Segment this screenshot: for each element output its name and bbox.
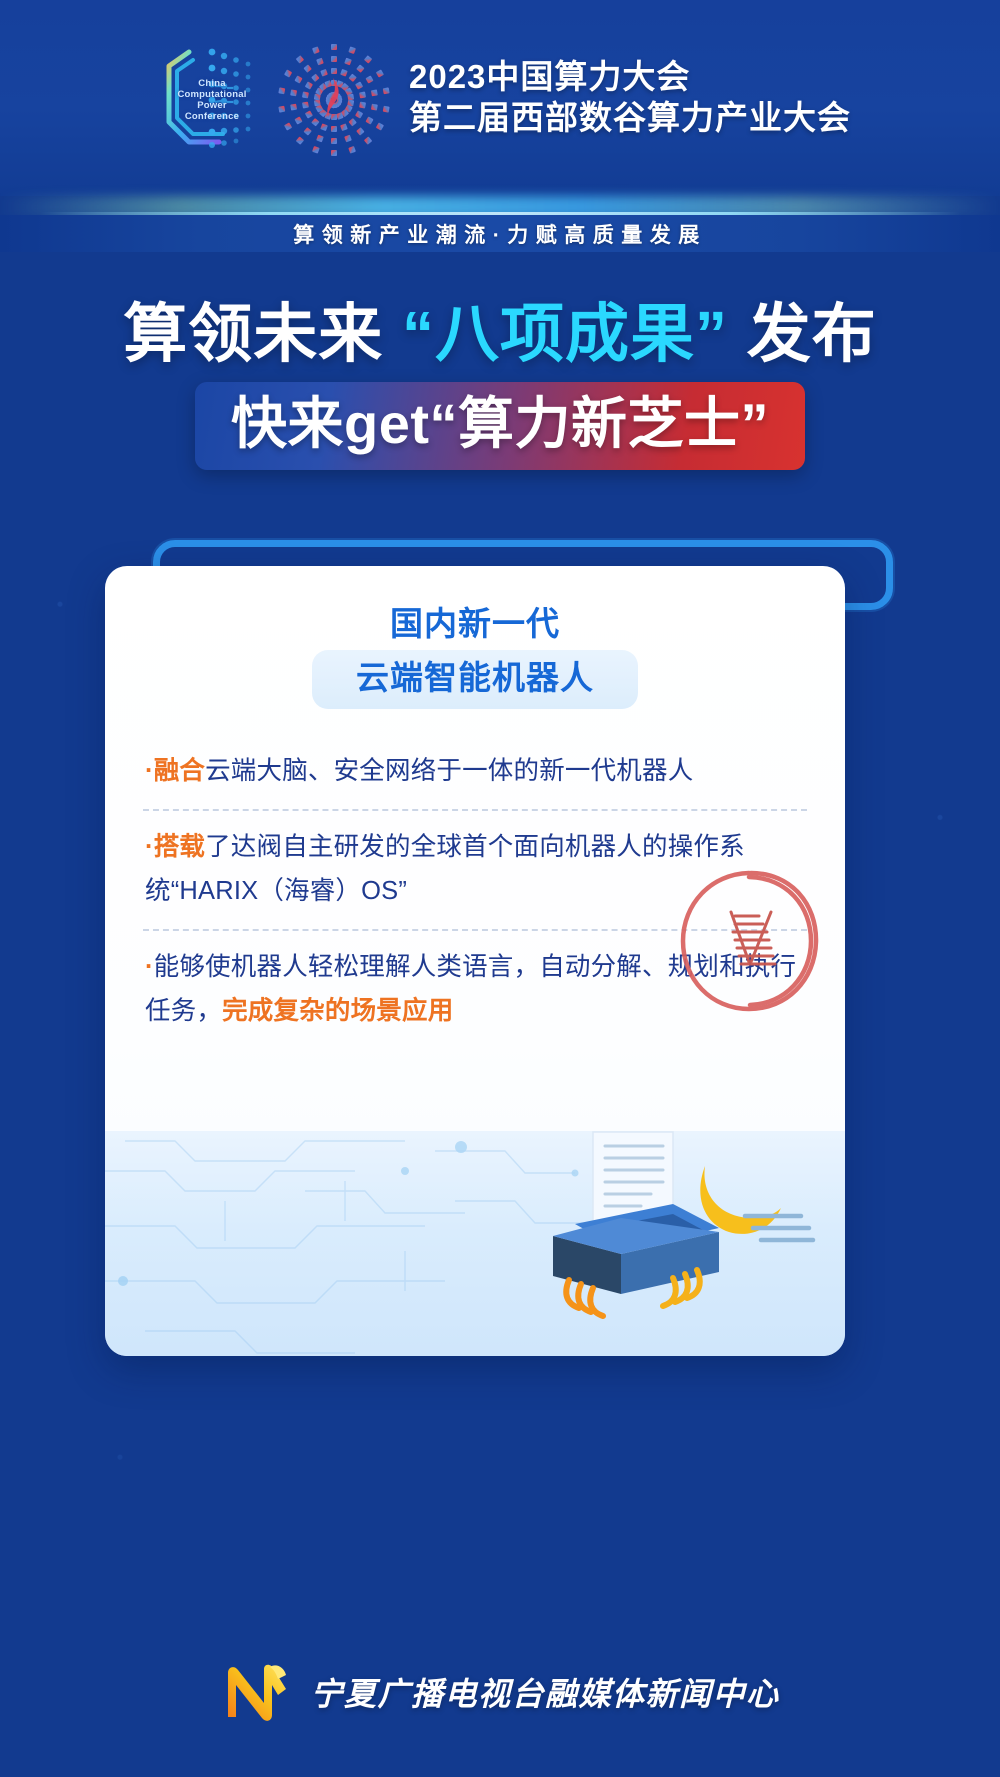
result-card-container: 国内新一代 云端智能机器人 ·融合云端大脑、安全网络于一体的新一代机器人 ·搭载… <box>105 540 895 1360</box>
radial-fan-logo-icon <box>275 38 391 158</box>
bullet-marker: · <box>145 757 154 785</box>
result-card: 国内新一代 云端智能机器人 ·融合云端大脑、安全网络于一体的新一代机器人 ·搭载… <box>105 566 845 1356</box>
poster-root: China Computational Power Conference <box>0 0 1000 1777</box>
conference-hex-logo-icon: China Computational Power Conference <box>149 38 257 158</box>
headline-line1-highlight: “八项成果” <box>402 298 728 370</box>
header-content: China Computational Power Conference <box>149 38 851 158</box>
bullet-2-text: 了达阀自主研发的全球首个面向机器人的操作系统“HARIX（海睿）OS” <box>145 833 745 905</box>
decorative-dashes-icon <box>739 1208 817 1248</box>
bullet-item-1: ·融合云端大脑、安全网络于一体的新一代机器人 <box>139 735 811 809</box>
logo-label: China Computational Power Conference <box>175 78 249 122</box>
bullet-item-3: ·能够使机器人轻松理解人类语言，自动分解、规划和执行任务，完成复杂的场景应用 <box>139 931 811 1049</box>
bullet-3-emphasis-tail: 完成复杂的场景应用 <box>222 997 453 1025</box>
header-title-group: 2023中国算力大会 第二届西部数谷算力产业大会 <box>409 57 851 139</box>
slogan-bar: 算领新产业潮流·力赋高质量发展 <box>0 215 1000 252</box>
headline-gradient-bar: 快来get“算力新芝士” <box>195 382 805 470</box>
ningxia-tv-n-logo-icon <box>220 1661 294 1723</box>
bullet-2-emphasis: 搭载 <box>154 833 205 861</box>
card-title-block: 国内新一代 云端智能机器人 <box>105 600 845 709</box>
headline-line1: 算领未来 “八项成果” 发布 <box>0 294 1000 374</box>
slogan-band: 算领新产业潮流·力赋高质量发展 <box>0 196 1000 252</box>
card-title-line1: 国内新一代 <box>105 600 845 648</box>
footer-band: 宁夏广播电视台融媒体新闻中心 <box>0 1607 1000 1777</box>
card-title-pill-wrap: 云端智能机器人 <box>105 650 845 709</box>
card-bullet-list: ·融合云端大脑、安全网络于一体的新一代机器人 ·搭载了达阀自主研发的全球首个面向… <box>139 735 811 1049</box>
headline-line1-part1: 算领未来 <box>123 298 383 370</box>
bullet-1-emphasis: 融合 <box>154 757 205 785</box>
conference-title-line2: 第二届西部数谷算力产业大会 <box>409 97 851 139</box>
footer-text: 宁夏广播电视台融媒体新闻中心 <box>310 1669 779 1715</box>
slogan-text: 算领新产业潮流·力赋高质量发展 <box>293 219 707 249</box>
conference-title-line1: 2023中国算力大会 <box>409 57 851 97</box>
bullet-1-text: 云端大脑、安全网络于一体的新一代机器人 <box>205 757 693 785</box>
bullet-marker: · <box>145 953 154 981</box>
card-title-pill: 云端智能机器人 <box>312 650 638 709</box>
headline-block: 算领未来 “八项成果” 发布 快来get“算力新芝士” <box>0 294 1000 470</box>
bullet-marker: · <box>145 833 154 861</box>
headline-line2-wrap: 快来get“算力新芝士” <box>0 382 1000 470</box>
bullet-item-2: ·搭载了达阀自主研发的全球首个面向机器人的操作系统“HARIX（海睿）OS” <box>139 811 811 929</box>
headline-line1-part2: 发布 <box>747 298 877 370</box>
card-title-line2: 云端智能机器人 <box>356 654 594 702</box>
header-band: China Computational Power Conference <box>0 0 1000 196</box>
headline-line2: 快来get“算力新芝士” <box>231 391 769 457</box>
